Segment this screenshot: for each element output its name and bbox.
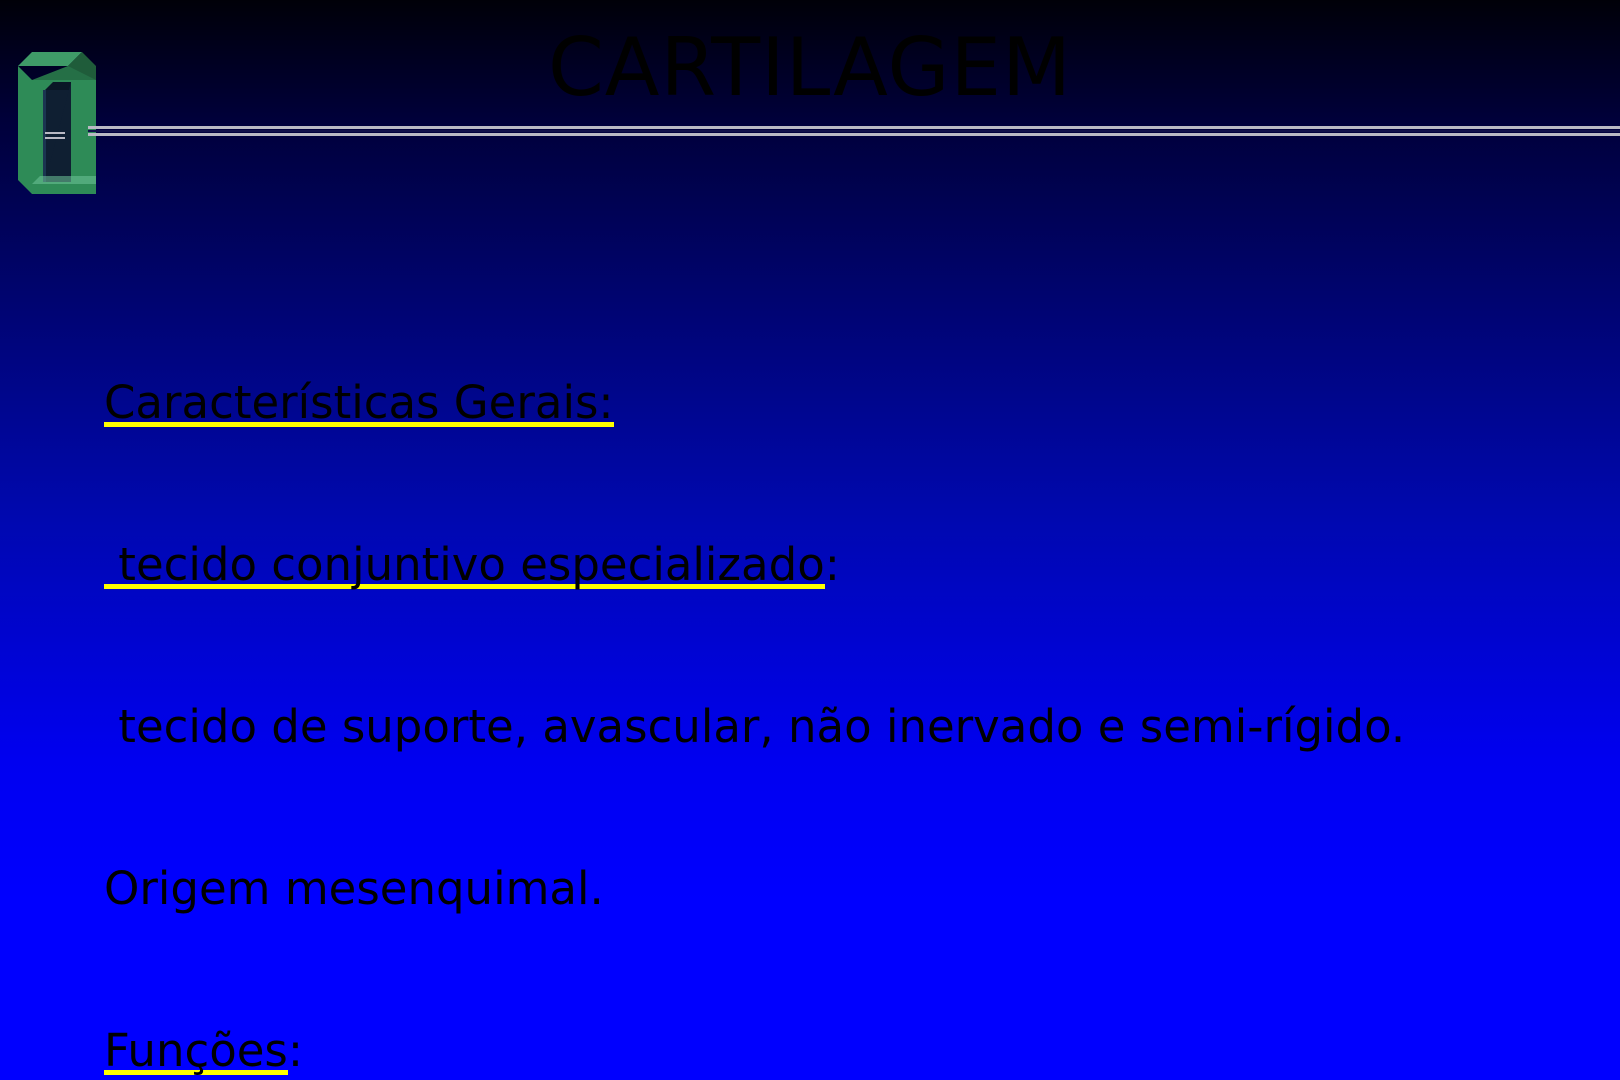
- body-line: Funções:: [104, 1024, 1564, 1078]
- body-line: tecido de suporte, avascular, não inerva…: [104, 700, 1564, 754]
- divider-line-bottom: [88, 133, 1620, 136]
- slide-body: Características Gerais: tecido conjuntiv…: [104, 268, 1564, 1080]
- body-line-plain: :: [288, 1024, 303, 1077]
- body-line: Origem mesenquimal.: [104, 862, 1564, 916]
- body-line-plain: Origem mesenquimal.: [104, 862, 604, 915]
- body-line-underlined: tecido conjuntivo especializado: [104, 538, 825, 593]
- page-title: CARTILAGEM: [0, 28, 1620, 108]
- divider-line-top: [88, 126, 1620, 129]
- body-line-plain: :: [825, 538, 840, 591]
- slide-canvas: CARTILAGEM Características Gerais: tecid…: [0, 0, 1620, 1080]
- body-line-plain: tecido de suporte, avascular, não inerva…: [104, 700, 1405, 753]
- body-line: tecido conjuntivo especializado:: [104, 538, 1564, 592]
- divider-gap: [88, 130, 1620, 132]
- body-line: Características Gerais:: [104, 376, 1564, 430]
- title-divider: [88, 126, 1620, 138]
- body-line-underlined: Funções: [104, 1024, 288, 1079]
- body-line-underlined: Características Gerais:: [104, 376, 614, 431]
